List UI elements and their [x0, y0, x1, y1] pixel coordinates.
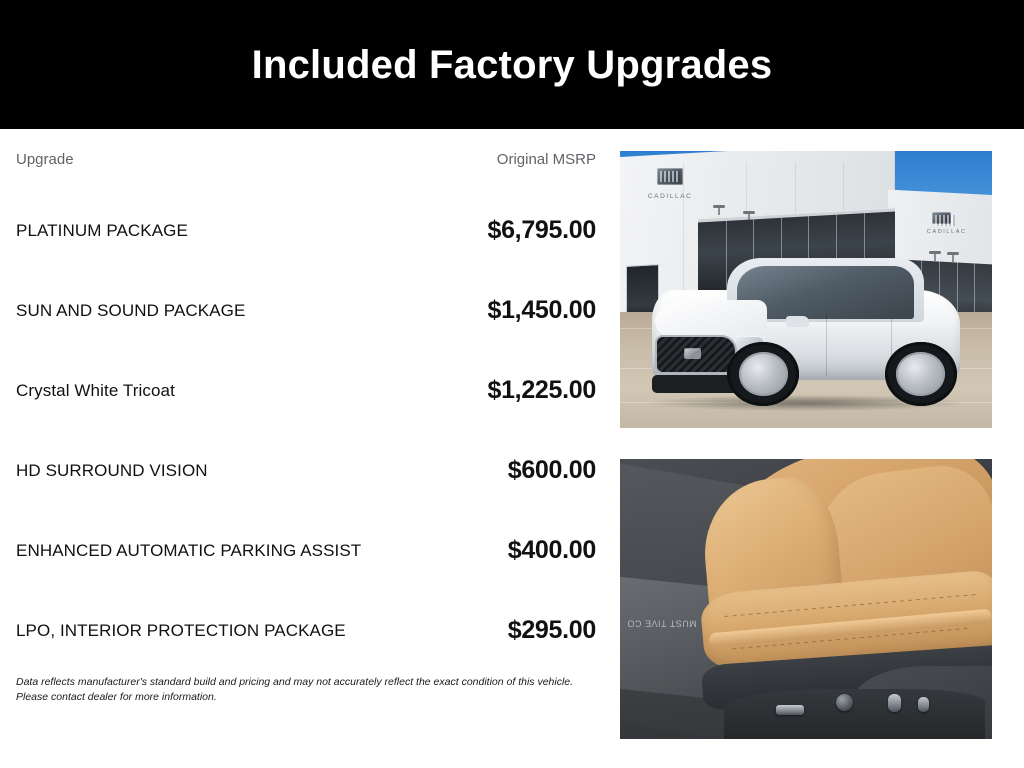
table-row: ENHANCED AUTOMATIC PARKING ASSIST $400.0…: [16, 521, 596, 565]
upgrade-name: Crystal White Tricoat: [16, 380, 175, 405]
upgrade-name: PLATINUM PACKAGE: [16, 220, 188, 245]
column-header-upgrade: Upgrade: [16, 151, 74, 168]
rear-wheel: [885, 342, 957, 406]
table-header-row: Upgrade Original MSRP: [16, 151, 596, 173]
vehicle-exterior-photo: CADILLAC CADILLAC: [620, 151, 992, 428]
upgrade-price: $400.00: [508, 536, 596, 565]
factory-upgrades-page: Included Factory Upgrades Upgrade Origin…: [0, 0, 1024, 768]
cadillac-crest-icon: [657, 168, 683, 185]
dealer-sign-text-secondary: CADILLAC: [927, 229, 967, 235]
seat-adjust-switch[interactable]: [776, 705, 804, 715]
light-fixture-icon: [743, 211, 755, 214]
upgrade-price: $1,225.00: [487, 376, 596, 405]
front-wheel: [727, 342, 799, 406]
page-title: Included Factory Upgrades: [252, 43, 773, 87]
seat-track-housing: [724, 689, 984, 739]
upgrade-name: ENHANCED AUTOMATIC PARKING ASSIST: [16, 540, 361, 565]
upgrade-price: $600.00: [508, 456, 596, 485]
table-row: Crystal White Tricoat $1,225.00: [16, 361, 596, 405]
table-row: LPO, INTERIOR PROTECTION PACKAGE $295.00: [16, 601, 596, 645]
lumbar-adjust-switch[interactable]: [888, 694, 901, 712]
floor-film-text: MUST TIVE CO: [627, 616, 697, 630]
media-column: CADILLAC CADILLAC: [612, 129, 1024, 768]
disclaimer-line-2: Please contact dealer for more informati…: [16, 690, 596, 705]
cadillac-emblem-icon: [685, 349, 700, 358]
table-row: HD SURROUND VISION $600.00: [16, 441, 596, 485]
dealer-sign-text: CADILLAC: [648, 193, 693, 200]
table-row: SUN AND SOUND PACKAGE $1,450.00: [16, 281, 596, 325]
cadillac-sedan: [642, 245, 969, 406]
upgrades-table: Upgrade Original MSRP PLATINUM PACKAGE $…: [0, 129, 612, 768]
light-fixture-icon: [713, 205, 725, 208]
seat-height-switch[interactable]: [918, 697, 929, 712]
column-header-msrp: Original MSRP: [497, 151, 596, 168]
upgrade-price: $295.00: [508, 616, 596, 645]
seat-recline-knob[interactable]: [836, 694, 853, 711]
disclaimer-text: Data reflects manufacturer's standard bu…: [16, 675, 596, 705]
table-body: PLATINUM PACKAGE $6,795.00 SUN AND SOUND…: [16, 201, 596, 645]
upgrade-price: $1,450.00: [487, 296, 596, 325]
disclaimer-line-1: Data reflects manufacturer's standard bu…: [16, 675, 596, 690]
upgrade-name: SUN AND SOUND PACKAGE: [16, 300, 245, 325]
upgrade-price: $6,795.00: [487, 216, 596, 245]
page-body: Upgrade Original MSRP PLATINUM PACKAGE $…: [0, 129, 1024, 768]
vehicle-interior-photo: MUST TIVE CO: [620, 459, 992, 739]
upgrade-name: HD SURROUND VISION: [16, 460, 208, 485]
table-row: PLATINUM PACKAGE $6,795.00: [16, 201, 596, 245]
page-header: Included Factory Upgrades: [0, 0, 1024, 129]
cadillac-crest-icon-secondary: [932, 212, 951, 224]
upgrade-name: LPO, INTERIOR PROTECTION PACKAGE: [16, 620, 346, 645]
